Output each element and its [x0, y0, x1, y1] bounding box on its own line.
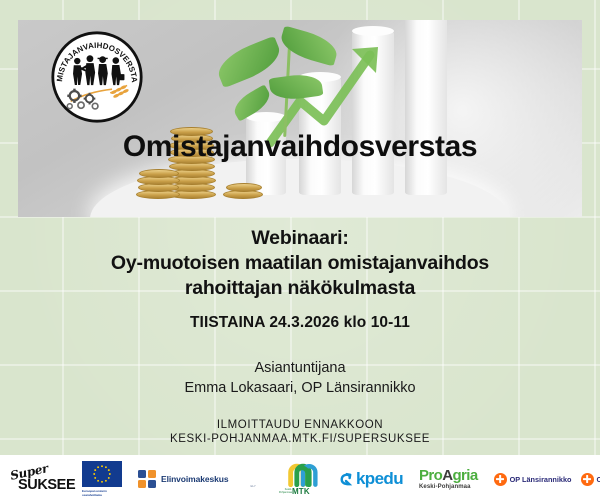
proagria-part-pro: Pro: [419, 467, 442, 484]
proagria-part-gria: gria: [452, 467, 477, 484]
elinvoimakeskus-tiles-icon: [138, 470, 156, 488]
signup-info: ILMOITTAUDU ENNAKKOON KESKI-POHJANMAA.MT…: [0, 418, 600, 446]
mtk-region-label: Keski-Pohjanmaa: [272, 488, 292, 494]
super-suksee-bold-word: SUKSEE: [18, 477, 75, 493]
logo-kpedu: kpedu: [338, 469, 403, 489]
logo-op-jokilaaksot: OP Jokilaaksot: [581, 473, 600, 486]
eu-stars-icon: [82, 461, 122, 487]
speaker-name: Emma Lokasaari, OP Länsirannikko: [0, 378, 600, 398]
elinvoimakeskus-label: Elinvoimakeskus: [161, 474, 228, 484]
proagria-wordmark: ProAgria: [419, 468, 478, 483]
logo-proagria: ProAgria Keski-Pohjanmaa: [419, 468, 478, 490]
webinar-poster: OMISTAJANVAIHDOSVERSTAS: [0, 0, 600, 503]
event-date-time: TIISTAINA 24.3.2026 klo 10-11: [0, 314, 600, 332]
omistajanvaihdosverstas-logo: OMISTAJANVAIHDOSVERSTAS: [50, 30, 144, 124]
elinvoimakeskus-trademark: ELY: [250, 484, 255, 488]
op-jokilaaksot-label: OP Jokilaaksot: [597, 475, 600, 484]
subtitle-line-2: Oy-muotoisen maatilan omistajanvaihdos: [0, 251, 600, 276]
eu-caption: Euroopan unionin osarahoittama: [82, 489, 126, 497]
header-banner: OMISTAJANVAIHDOSVERSTAS: [18, 20, 582, 217]
proagria-subtitle: Keski-Pohjanmaa: [419, 484, 478, 490]
speaker-role-label: Asiantuntijana: [0, 358, 600, 378]
kpedu-swoosh-icon: [338, 472, 353, 487]
subtitle-line-3: rahoittajan näkökulmasta: [0, 276, 600, 301]
op-lansirannikko-label: OP Länsirannikko: [510, 475, 572, 484]
poster-title: Omistajanvaihdosverstas: [18, 130, 582, 164]
subtitle-line-1: Webinaari:: [0, 226, 600, 251]
kpedu-label: kpedu: [356, 469, 403, 489]
partner-logo-bar: Super SUKSEE: [0, 455, 600, 503]
cylinder-bar-4: [405, 20, 447, 195]
logo-european-union: Euroopan unionin osarahoittama: [82, 461, 128, 497]
logo-super-suksee: Super SUKSEE: [10, 464, 68, 494]
webinar-subtitle: Webinaari: Oy-muotoisen maatilan omistaj…: [0, 226, 600, 301]
logo-op-lansirannikko: OP Länsirannikko: [494, 473, 572, 486]
op-cross-icon: [581, 473, 594, 486]
logo-group-op-banks: OP Länsirannikko OP Jokilaaksot OP Suome…: [494, 473, 600, 486]
eu-flag-icon: [82, 461, 122, 487]
proagria-part-a: A: [442, 467, 452, 484]
op-cross-icon: [494, 473, 507, 486]
mtk-mark-icon: [288, 463, 318, 487]
logo-elinvoimakeskus: Elinvoimakeskus ELY: [138, 470, 256, 488]
signup-instruction: ILMOITTAUDU ENNAKKOON: [0, 418, 600, 432]
speaker-info: Asiantuntijana Emma Lokasaari, OP Länsir…: [0, 358, 600, 398]
logo-mtk: Keski-Pohjanmaa MTK: [278, 462, 322, 496]
eu-caption-line-2: osarahoittama: [82, 493, 126, 497]
mtk-label: MTK: [292, 487, 310, 496]
signup-url[interactable]: KESKI-POHJANMAA.MTK.FI/SUPERSUKSEE: [0, 432, 600, 446]
